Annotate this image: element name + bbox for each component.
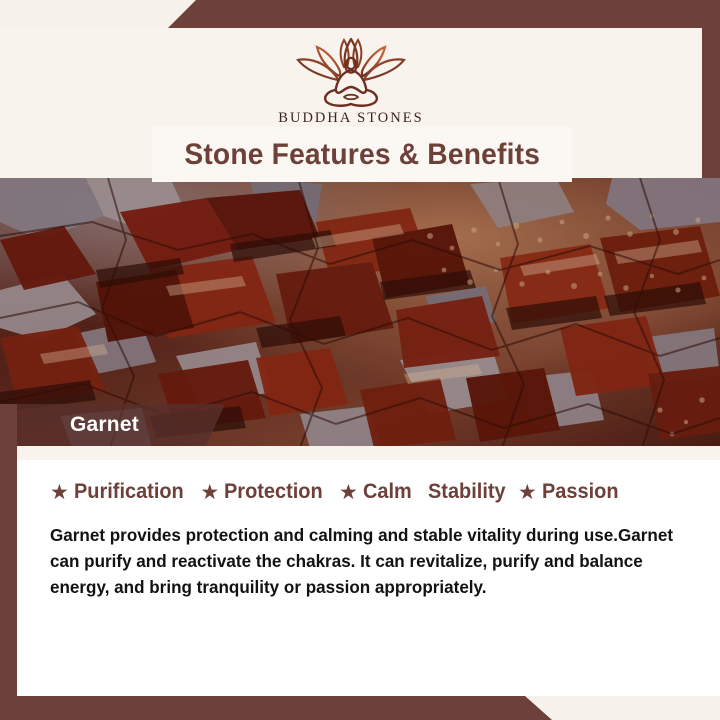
benefit-label: Calm bbox=[363, 480, 412, 504]
benefit-label: Purification bbox=[74, 480, 184, 504]
star-icon: ★ bbox=[339, 482, 358, 503]
content-card: ★ Purification ★ Protection ★ Calm Stabi… bbox=[17, 446, 720, 696]
title-banner: Stone Features & Benefits bbox=[152, 127, 572, 182]
brand-name: BUDDHA STONES bbox=[278, 110, 423, 127]
benefit-item-stability: Stability bbox=[428, 480, 510, 504]
brand-logo: BUDDHA STONES bbox=[0, 36, 702, 127]
stone-description: Garnet provides protection and calming a… bbox=[50, 522, 677, 600]
card-top-divider bbox=[17, 446, 720, 460]
bottom-decorative-band bbox=[0, 696, 720, 720]
page-title: Stone Features & Benefits bbox=[184, 138, 540, 172]
star-icon: ★ bbox=[200, 482, 219, 503]
benefit-item-passion: ★ Passion bbox=[518, 480, 622, 504]
stone-name-plate: Garnet bbox=[0, 404, 225, 446]
benefit-item-purification: ★ Purification bbox=[50, 480, 189, 504]
star-icon: ★ bbox=[518, 482, 537, 503]
top-decorative-band bbox=[0, 0, 720, 28]
infographic-page: BUDDHA STONES Stone Features & Benefits bbox=[0, 0, 720, 720]
benefit-item-calm: ★ Calm bbox=[339, 480, 414, 504]
benefit-label: Stability bbox=[428, 480, 506, 504]
benefit-item-protection: ★ Protection bbox=[200, 480, 328, 504]
stone-name: Garnet bbox=[70, 413, 139, 437]
benefit-label: Passion bbox=[542, 480, 619, 504]
star-icon: ★ bbox=[50, 482, 69, 503]
left-decorative-rail bbox=[0, 404, 17, 720]
benefit-label: Protection bbox=[224, 480, 323, 504]
lotus-meditation-icon bbox=[276, 36, 426, 108]
right-decorative-strip bbox=[702, 28, 720, 178]
benefits-list: ★ Purification ★ Protection ★ Calm Stabi… bbox=[50, 480, 700, 504]
